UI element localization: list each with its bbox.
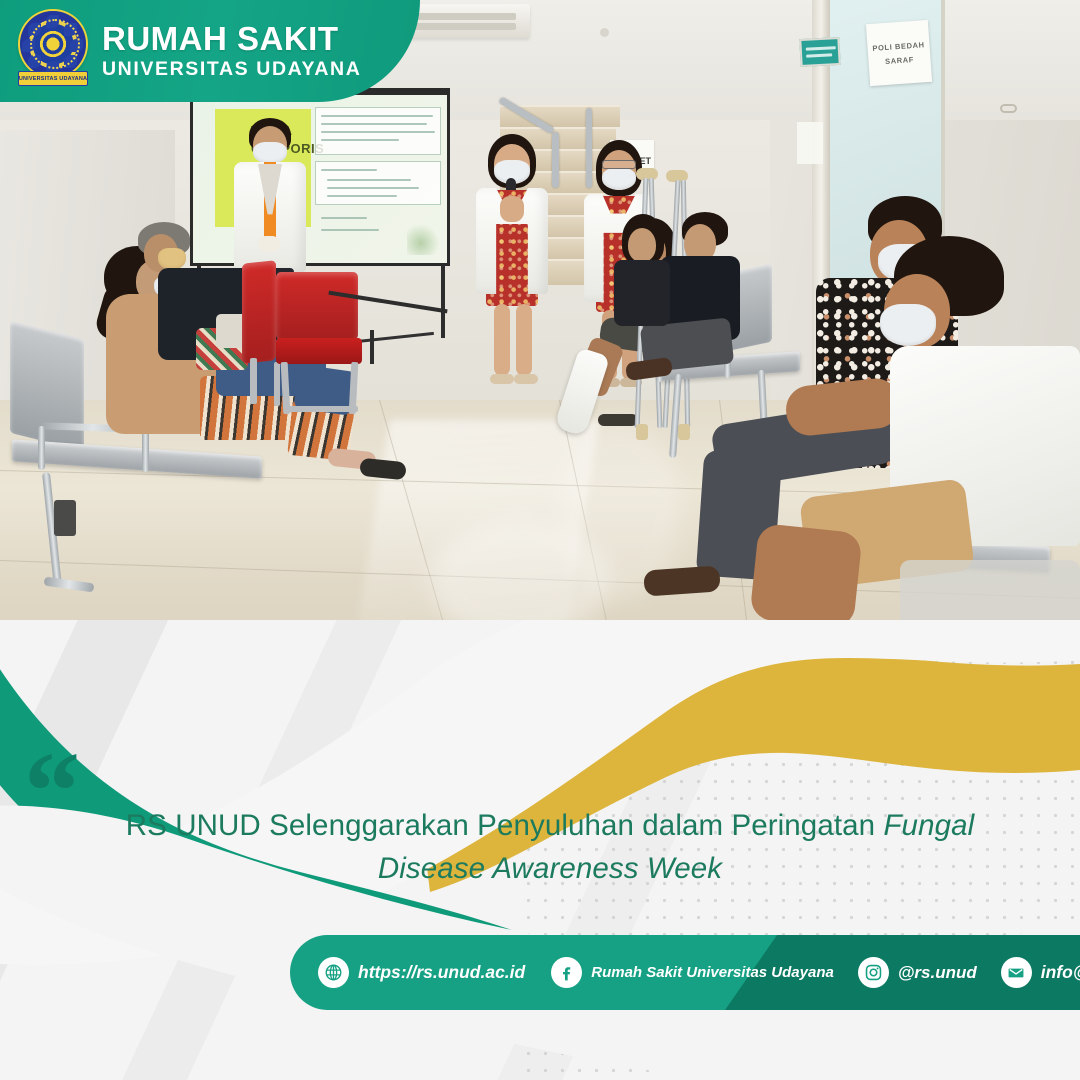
event-photo: TINEA CORPORIS IS — [0, 0, 1080, 700]
instagram-icon — [858, 957, 889, 988]
headline: RS UNUD Selenggarakan Penyuluhan dalam P… — [70, 805, 1030, 891]
dark-top — [614, 260, 670, 326]
footer-item-email[interactable]: info@rs.unud.ac.id — [1001, 957, 1080, 988]
brand-title: RUMAH SAKIT UNIVERSITAS UDAYANA — [102, 22, 361, 80]
footer-label-facebook: Rumah Sakit Universitas Udayana — [591, 964, 834, 981]
footer-label-website: https://rs.unud.ac.id — [358, 962, 525, 983]
sign-line-1: POLI BEDAH — [867, 40, 929, 53]
brand-line-2: UNIVERSITAS UDAYANA — [102, 60, 361, 80]
sign-line-2: SARAF — [868, 54, 930, 67]
sandal — [514, 374, 538, 384]
eyeglasses — [602, 160, 636, 169]
wall-hook — [1000, 104, 1017, 113]
emblem-circle — [20, 11, 86, 77]
footer-item-website[interactable]: https://rs.unud.ac.id — [318, 957, 525, 988]
wall-notice-paper — [797, 122, 823, 164]
facebook-icon — [551, 957, 582, 988]
headline-part-1: RS UNUD Selenggarakan Penyuluhan dalam P… — [126, 809, 884, 842]
thigh — [749, 523, 862, 629]
person-speaker-with-mic — [466, 134, 558, 396]
brand-header: UNIVERSITAS UDAYANA RUMAH SAKIT UNIVERSI… — [0, 0, 420, 102]
footer-label-email: info@rs.unud.ac.id — [1041, 962, 1080, 983]
doctor-nameplate — [799, 37, 840, 67]
poli-bedah-saraf-sign: POLI BEDAH SARAF — [866, 20, 932, 86]
footer-item-facebook[interactable]: Rumah Sakit Universitas Udayana — [551, 957, 834, 988]
leather-shoe — [643, 565, 721, 596]
emblem-banner: UNIVERSITAS UDAYANA — [18, 71, 88, 86]
ceiling-sprinkler — [600, 28, 609, 37]
udayana-university-emblem: UNIVERSITAS UDAYANA — [18, 11, 88, 91]
social-media-poster: TINEA CORPORIS IS — [0, 0, 1080, 1080]
footer-label-instagram: @rs.unud — [898, 963, 977, 983]
sandal — [490, 374, 514, 384]
footer-item-instagram[interactable]: @rs.unud — [858, 957, 977, 988]
emblem-banner-text: UNIVERSITAS UDAYANA — [19, 76, 87, 82]
emblem-ring — [30, 19, 80, 69]
table-leg — [370, 330, 374, 364]
brand-line-1: RUMAH SAKIT — [102, 22, 361, 55]
person-seated-woman-right — [592, 214, 662, 364]
email-icon — [1001, 957, 1032, 988]
slide-leaf-graphic — [407, 225, 441, 255]
globe-icon — [318, 957, 349, 988]
screen-stand-pole — [441, 266, 445, 338]
contact-footer-bar: https://rs.unud.ac.id Rumah Sakit Univer… — [290, 935, 1080, 1010]
slide-text-box — [315, 161, 441, 205]
